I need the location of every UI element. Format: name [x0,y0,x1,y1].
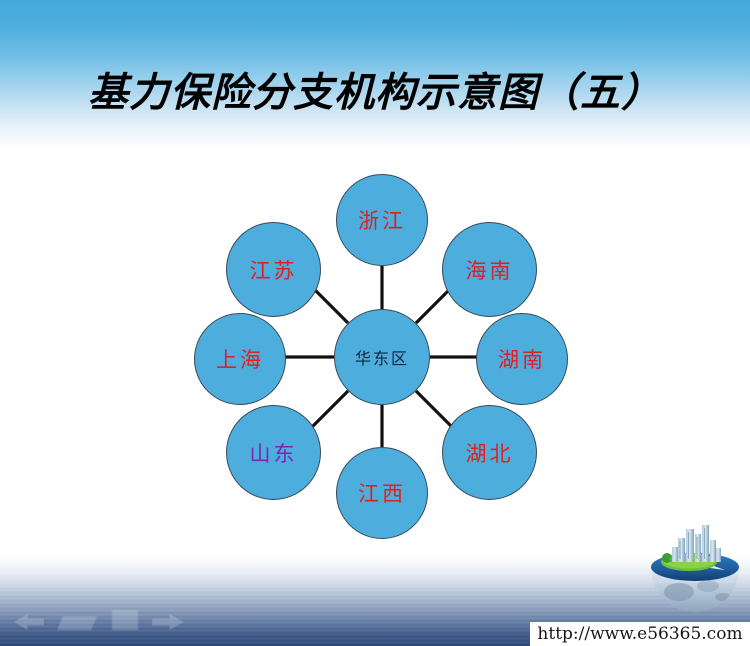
diagram-node-zhejiang[interactable]: 浙江 [336,174,428,266]
diagram-node-shandong[interactable]: 山东 [226,405,321,500]
website-url-box: http://www.e56365.com [530,622,750,646]
globe-city-logo [645,520,745,615]
connector-bottom-left [312,391,348,427]
website-url[interactable]: http://www.e56365.com [537,624,742,644]
slide-canvas: 基力保险分支机构示意图（五） 华东区 浙江 海南 湖南 湖北 [0,0,750,646]
water-ghost-shape-square [112,610,138,630]
diagram-node-jiangsu[interactable]: 江苏 [226,222,321,317]
diagram-node-center[interactable]: 华东区 [334,309,430,405]
diagram-node-jiangxi[interactable]: 江西 [336,447,428,539]
connector-top-right [416,289,450,323]
diagram-node-hainan[interactable]: 海南 [442,222,537,317]
diagram-node-shanghai[interactable]: 上海 [194,313,286,405]
connector-top-left [314,289,348,323]
globe-city-skyline [672,525,721,562]
connector-bottom-right [416,391,452,427]
diagram-node-hubei[interactable]: 湖北 [442,405,537,500]
diagram-node-hunan[interactable]: 湖南 [476,313,568,405]
org-diagram: 华东区 浙江 海南 湖南 湖北 江西 山东 上海 江苏 [170,170,570,540]
page-title: 基力保险分支机构示意图（五） [0,60,750,118]
water-ghost-shape-slash [57,616,97,630]
